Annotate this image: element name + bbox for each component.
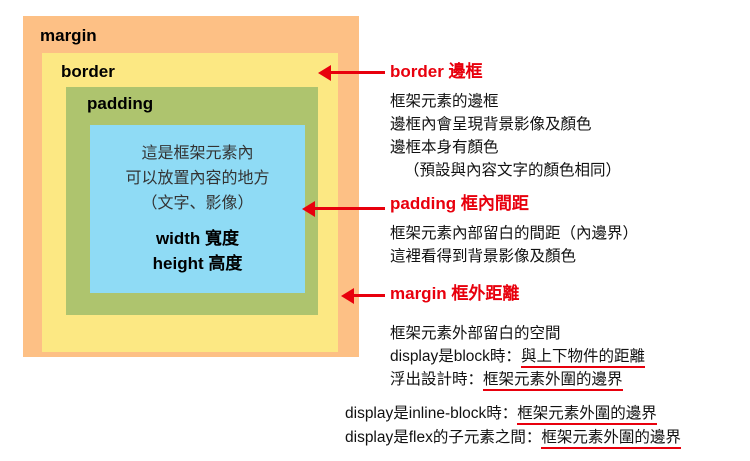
margin-box: margin border padding 這是框架元素內 可以放置內容的地方 … (23, 16, 359, 357)
annotation-line: 這裡看得到背景影像及顏色 (390, 245, 638, 268)
annotation-line: 邊框內會呈現背景影像及顏色 (390, 113, 621, 136)
annotation-prefix: 浮出設計時： (390, 371, 483, 388)
content-box: 這是框架元素內 可以放置內容的地方 （文字、影像） width 寬度 heigh… (90, 125, 305, 293)
note-underlined: 框架元素外圍的邊界 (541, 429, 681, 449)
bottom-note-line: display是flex的子元素之間：框架元素外圍的邊界 (345, 426, 681, 450)
annotation-body-margin: 框架元素外部留白的空間 display是block時：與上下物件的距離 浮出設計… (390, 322, 645, 391)
annotation-border: border 邊框 框架元素的邊框 邊框內會呈現背景影像及顏色 邊框本身有顏色 … (390, 62, 621, 182)
border-box-label: border (61, 62, 115, 82)
height-label: height 高度 (90, 251, 305, 276)
padding-box: padding 這是框架元素內 可以放置內容的地方 （文字、影像） width … (66, 87, 318, 315)
content-line: （文字、影像） (90, 191, 305, 216)
content-box-description: 這是框架元素內 可以放置內容的地方 （文字、影像） (90, 141, 305, 216)
annotation-body-border: 框架元素的邊框 邊框內會呈現背景影像及顏色 邊框本身有顏色 （預設與內容文字的顏… (390, 90, 621, 182)
annotation-title-padding: padding 框內間距 (390, 194, 638, 214)
bottom-notes: display是inline-block時：框架元素外圍的邊界 display是… (345, 402, 681, 450)
annotation-underlined: 與上下物件的距離 (521, 348, 645, 368)
annotation-margin: margin 框外距離 框架元素外部留白的空間 display是block時：與… (390, 284, 645, 391)
annotation-title-margin: margin 框外距離 (390, 284, 645, 304)
annotation-title-border: border 邊框 (390, 62, 621, 82)
arrow-shaft (352, 294, 385, 297)
content-box-dimensions: width 寬度 height 高度 (90, 226, 305, 276)
content-line: 這是框架元素內 (90, 141, 305, 166)
annotation-padding: padding 框內間距 框架元素內部留白的間距（內邊界） 這裡看得到背景影像及… (390, 194, 638, 268)
note-prefix: display是inline-block時： (345, 405, 517, 422)
annotation-line-keyed: display是block時：與上下物件的距離 (390, 345, 645, 368)
annotation-body-padding: 框架元素內部留白的間距（內邊界） 這裡看得到背景影像及顏色 (390, 222, 638, 268)
annotation-line: 框架元素外部留白的空間 (390, 322, 645, 345)
arrow-shaft (329, 71, 385, 74)
annotation-line: 邊框本身有顏色 (390, 136, 621, 159)
annotation-prefix: display是block時： (390, 348, 521, 365)
annotation-line-keyed: 浮出設計時：框架元素外圍的邊界 (390, 368, 645, 391)
annotation-underlined: 框架元素外圍的邊界 (483, 371, 623, 391)
annotation-line: 框架元素內部留白的間距（內邊界） (390, 222, 638, 245)
padding-box-label: padding (87, 94, 153, 114)
annotation-line: （預設與內容文字的顏色相同） (390, 159, 621, 182)
box-model-diagram: margin border padding 這是框架元素內 可以放置內容的地方 … (0, 0, 750, 461)
arrow-shaft (313, 207, 385, 210)
arrow-left-icon-margin (341, 287, 385, 303)
margin-box-label: margin (40, 26, 97, 46)
bottom-note-line: display是inline-block時：框架元素外圍的邊界 (345, 402, 681, 426)
border-box: border padding 這是框架元素內 可以放置內容的地方 （文字、影像）… (42, 53, 338, 352)
note-underlined: 框架元素外圍的邊界 (517, 405, 657, 425)
arrow-left-icon-padding (302, 200, 385, 216)
note-prefix: display是flex的子元素之間： (345, 429, 541, 446)
annotation-line: 框架元素的邊框 (390, 90, 621, 113)
content-line: 可以放置內容的地方 (90, 166, 305, 191)
width-label: width 寬度 (90, 226, 305, 251)
arrow-left-icon-border (318, 64, 385, 80)
